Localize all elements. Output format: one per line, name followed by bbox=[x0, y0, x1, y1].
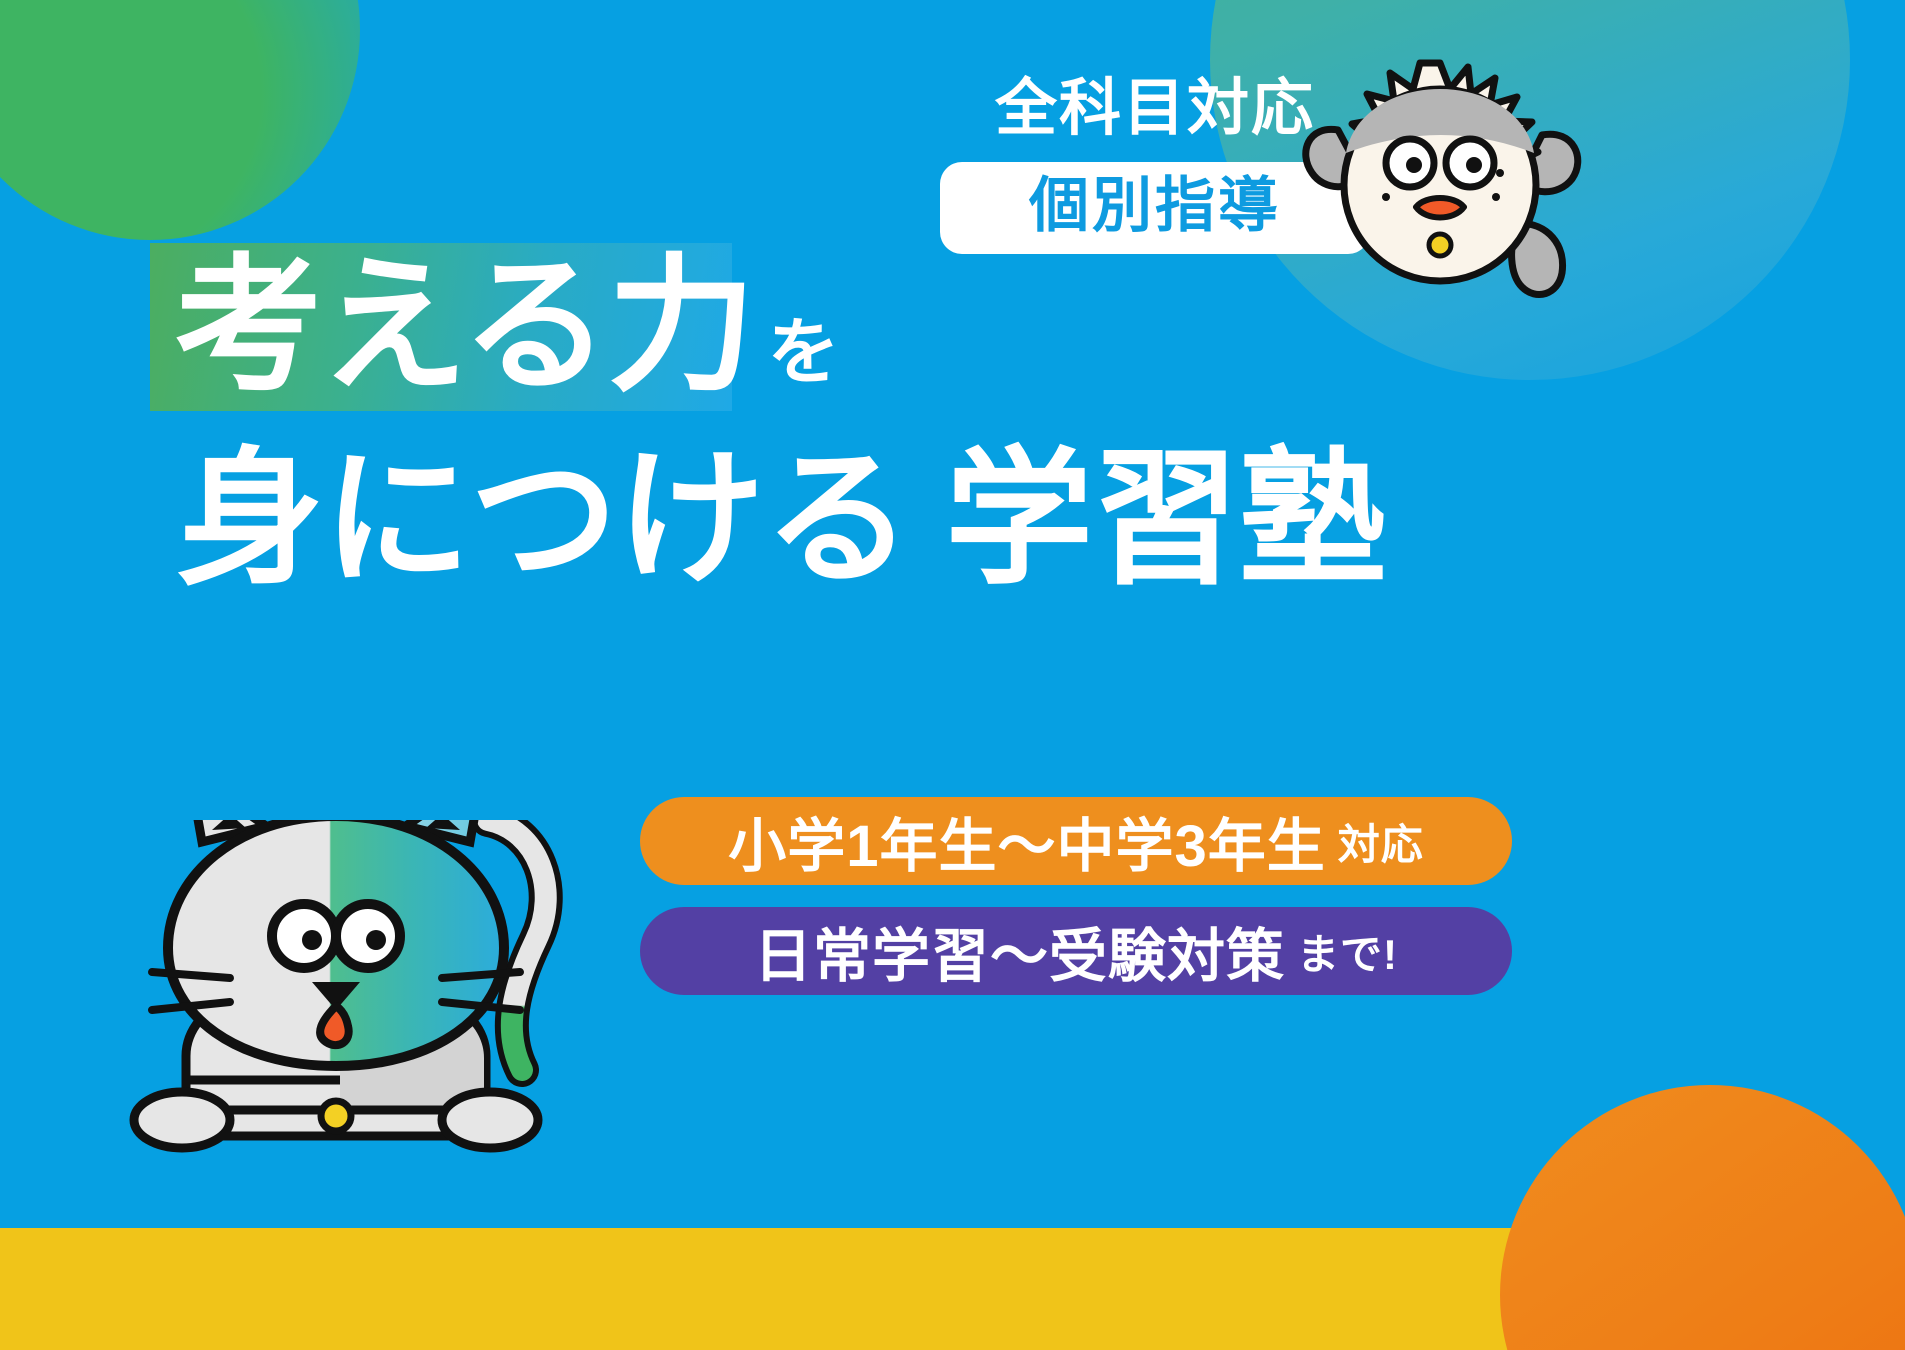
headline-line-1: 考える力を bbox=[150, 243, 1386, 411]
feature-pill-group: 小学1年生〜中学3年生 対応 日常学習〜受験対策 まで! bbox=[640, 797, 1512, 995]
headline: 考える力を 身につける学習塾 bbox=[150, 243, 1386, 605]
pill-grade-range[interactable]: 小学1年生〜中学3年生 対応 bbox=[640, 797, 1512, 885]
pill-study-scope-main: 日常学習〜受験対策 bbox=[754, 909, 1285, 993]
headline-line2-part2: 学習塾 bbox=[945, 437, 1386, 602]
cat-mascot bbox=[90, 820, 650, 1250]
headline-line2-part1: 身につける bbox=[176, 437, 911, 602]
headline-line-2: 身につける学習塾 bbox=[150, 435, 1386, 605]
headline-line1-particle: を bbox=[754, 313, 838, 393]
pill-study-scope-suffix: まで! bbox=[1285, 921, 1398, 982]
pill-grade-range-main: 小学1年生〜中学3年生 bbox=[728, 799, 1326, 883]
headline-line1-highlight-text: 考える力 bbox=[174, 244, 754, 409]
decorative-blob-top-left bbox=[0, 0, 360, 240]
decorative-blob-bottom-right bbox=[1500, 1085, 1905, 1350]
pill-grade-range-suffix: 対応 bbox=[1326, 811, 1424, 872]
banner-canvas: 全科目対応 個別指導 bbox=[0, 0, 1905, 1350]
pill-study-scope[interactable]: 日常学習〜受験対策 まで! bbox=[640, 907, 1512, 995]
badge-private-tutoring-label: 個別指導 bbox=[1029, 172, 1281, 239]
